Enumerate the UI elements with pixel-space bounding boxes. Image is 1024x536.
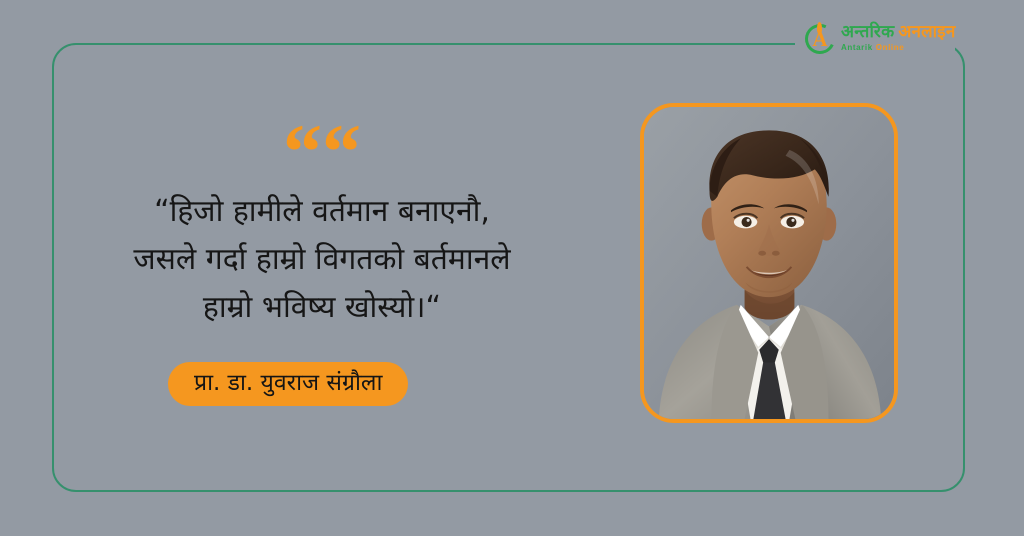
quotation-mark-icon: ““ [62,130,582,176]
brand-name-latin-part2: Online [876,43,905,52]
quote-line: हाम्रो भविष्य खोस्यो।“ [62,284,582,332]
brand-name-devanagari-part1: अन्तरिक [841,22,894,42]
logo-letter: A [803,29,837,50]
quote-block: ““ “हिजो हामीले वर्तमान बनाएनौ, जसले गर्… [62,130,582,332]
antarik-online-logo-icon: A [803,21,837,55]
quote-line: “हिजो हामीले वर्तमान बनाएनौ, [62,188,582,236]
brand-name-devanagari: अन्तरिकअनलाइन [841,24,955,41]
attribution-name-badge: प्रा. डा. युवराज संग्रौला [168,362,408,406]
quote-card-canvas: A अन्तरिकअनलाइन AntarikOnline ““ “हिजो ह… [0,0,1024,536]
brand-name-latin: AntarikOnline [841,44,955,52]
quote-line: जसले गर्दा हाम्रो विगतको बर्तमानले [62,236,582,284]
brand-name-devanagari-part2: अनलाइन [898,22,955,42]
brand-name-latin-part1: Antarik [841,43,873,52]
brand-wordmark: अन्तरिकअनलाइन AntarikOnline [841,24,955,52]
brand-logo[interactable]: A अन्तरिकअनलाइन AntarikOnline [803,16,951,60]
portrait-photo [640,103,898,423]
portrait-illustration [644,107,894,419]
quote-text: “हिजो हामीले वर्तमान बनाएनौ, जसले गर्दा … [62,188,582,332]
